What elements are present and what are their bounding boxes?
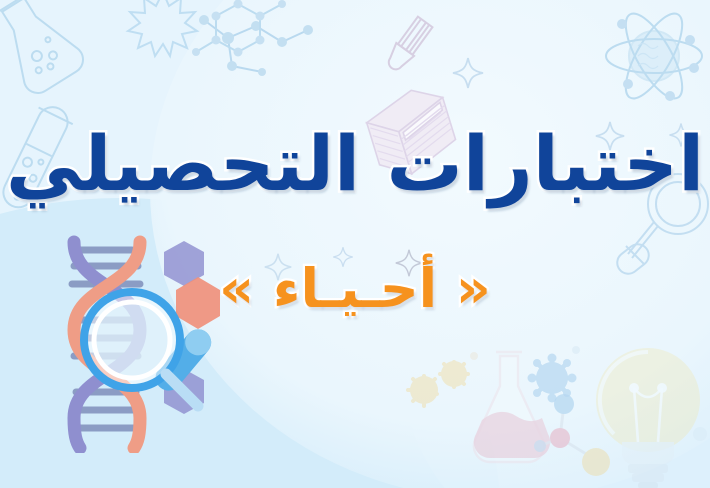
page-title: اختبارات التحصيلي <box>6 126 704 202</box>
subject-block: « أحـيـاء » <box>0 262 710 316</box>
title-block: اختبارات التحصيلي <box>0 126 710 202</box>
subject-title: « أحـيـاء » <box>219 262 491 316</box>
exam-poster: اختبارات التحصيلي « أحـيـاء » <box>0 0 710 488</box>
